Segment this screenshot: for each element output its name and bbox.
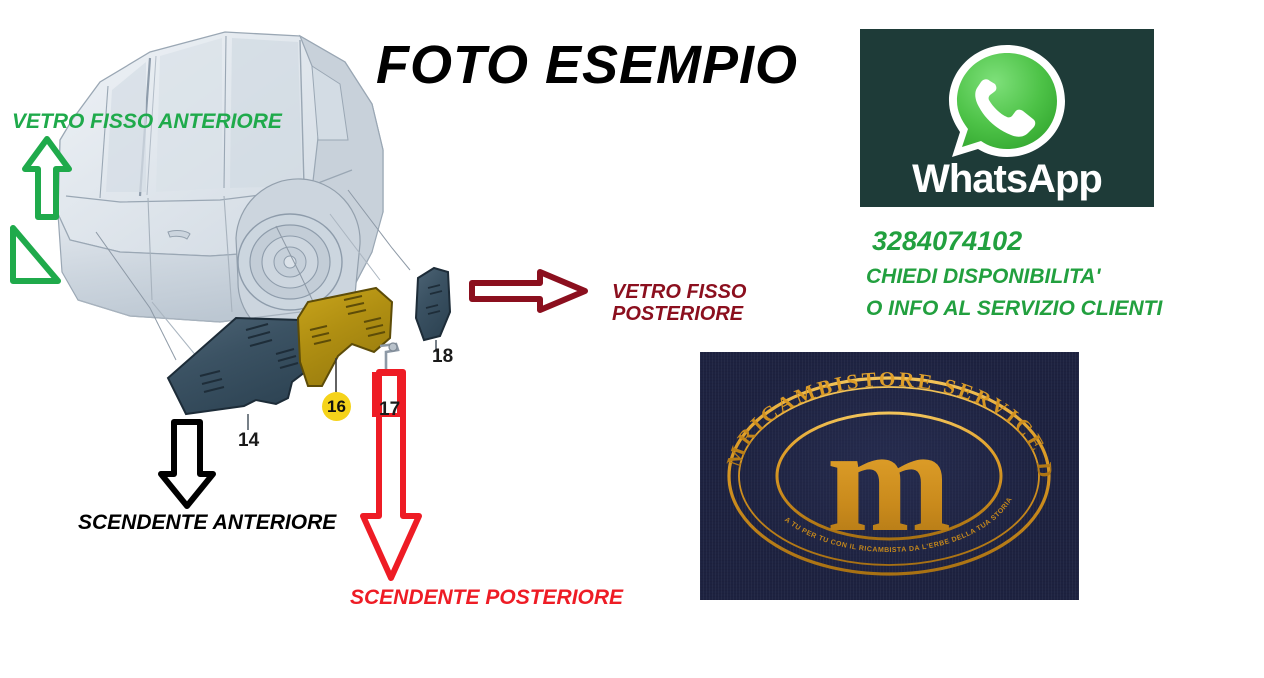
black-down-arrow (156, 418, 218, 510)
label-scendente-anteriore: SCENDENTE ANTERIORE (78, 511, 336, 535)
brand-logo-plate: MRICAMBISTORE SERVICE DI RUSSO MARCO m A… (700, 352, 1079, 600)
label-vetro-fisso-posteriore-line1: VETRO FISSO (612, 281, 746, 303)
page-title: FOTO ESEMPIO (376, 38, 798, 92)
part-14-front-drop-glass (168, 318, 312, 430)
green-triangle-marker (8, 224, 62, 286)
whatsapp-wordmark: WhatsApp (860, 159, 1154, 199)
mricambistore-logo: MRICAMBISTORE SERVICE DI RUSSO MARCO m A… (700, 352, 1079, 600)
contact-line-1: CHIEDI DISPONIBILITA' (866, 265, 1100, 289)
logo-monogram: m (827, 397, 952, 563)
part-label-14: 14 (238, 431, 259, 450)
green-up-arrow (20, 135, 74, 221)
label-vetro-fisso-posteriore-line2: POSTERIORE (612, 303, 746, 325)
label-vetro-fisso-anteriore: VETRO FISSO ANTERIORE (12, 110, 282, 134)
whatsapp-banner[interactable]: WhatsApp (860, 29, 1154, 207)
poster-canvas: 14 16 17 18 FOTO ESEMPIO VETRO FISSO ANT… (0, 0, 1264, 678)
label-scendente-posteriore: SCENDENTE POSTERIORE (350, 586, 623, 610)
whatsapp-icon (932, 39, 1082, 164)
part-label-18: 18 (432, 347, 453, 366)
part-label-16: 16 (322, 392, 351, 421)
svg-text:m: m (827, 397, 952, 563)
part-label-17: 17 (379, 400, 400, 419)
part-18-rear-fixed-glass (416, 268, 450, 352)
dark-red-right-arrow (468, 267, 590, 315)
contact-line-2: O INFO AL SERVIZIO CLIENTI (866, 297, 1162, 321)
phone-number[interactable]: 3284074102 (872, 226, 1022, 257)
label-vetro-fisso-posteriore: VETRO FISSO POSTERIORE (612, 281, 746, 326)
